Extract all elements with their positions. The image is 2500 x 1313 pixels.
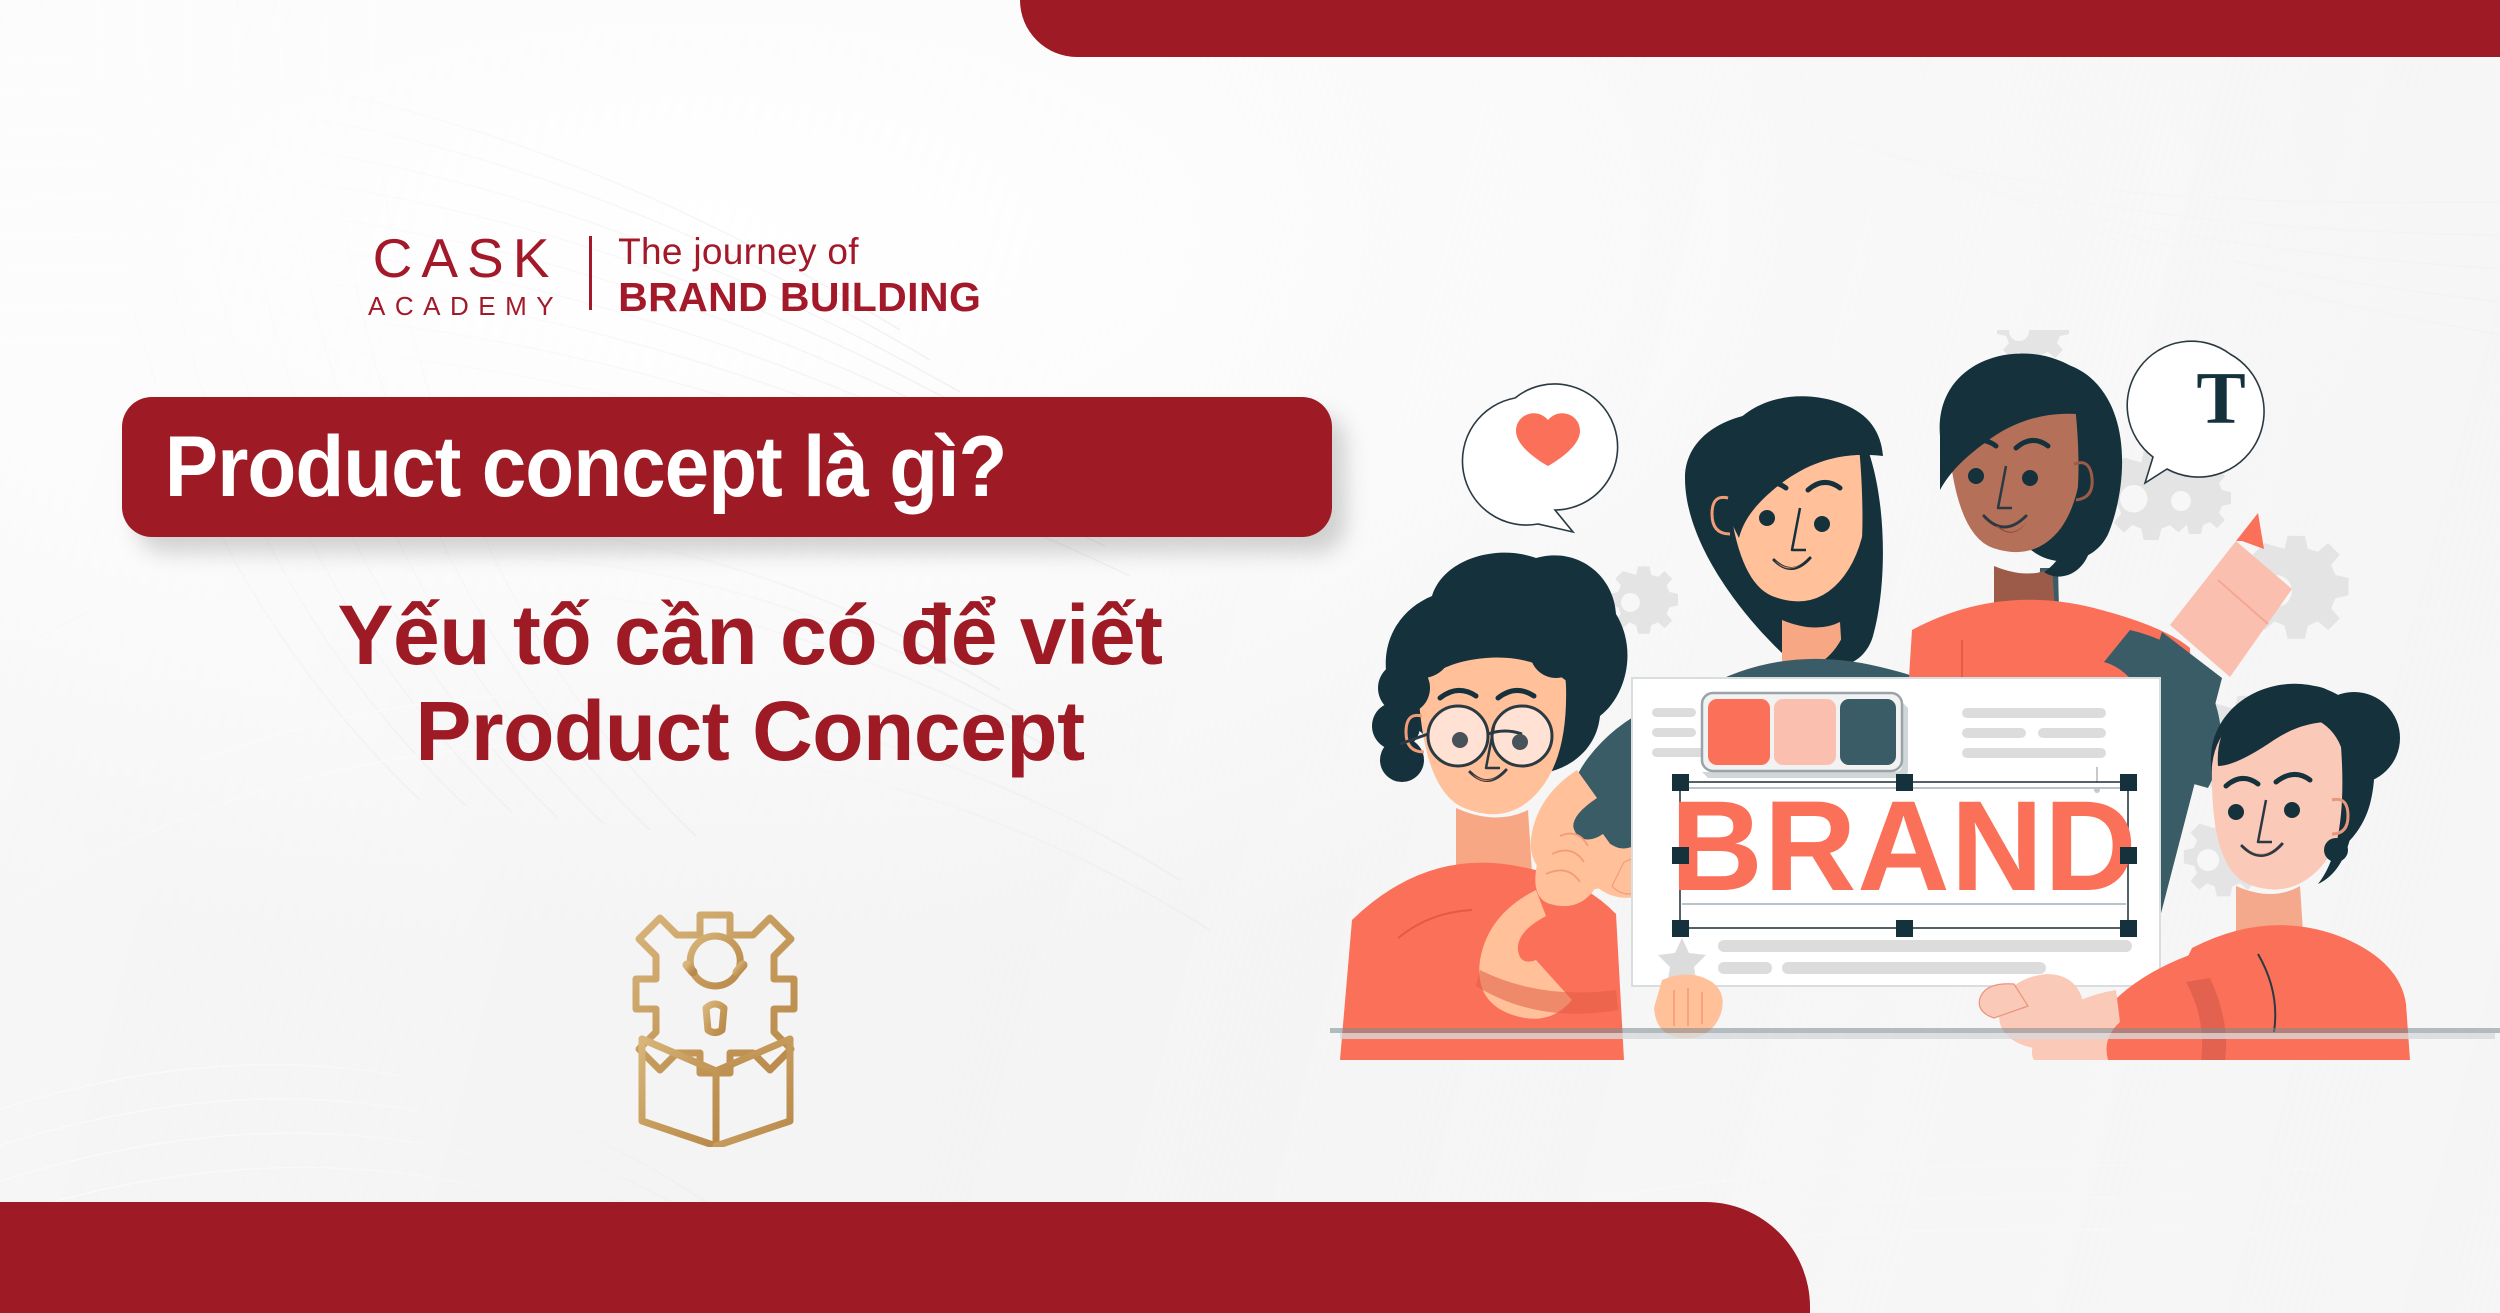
- pencil-tip-icon: [2236, 513, 2264, 549]
- bottom-red-bar: [0, 1202, 1810, 1313]
- top-red-bar: [1020, 0, 2500, 57]
- color-swatch-palette: [1702, 693, 1908, 778]
- team-branding-illustration: T: [1330, 330, 2500, 1060]
- brand-text-selection: BRAND: [1670, 774, 2137, 937]
- logo-cask-text: CASK: [373, 232, 559, 286]
- logo-tagline-line1: The journey of: [618, 232, 981, 273]
- heart-speech-bubble: [1462, 384, 1617, 532]
- coral-swatch: [1708, 699, 1770, 765]
- text-tool-letter: T: [2196, 358, 2245, 440]
- logo-tagline-line2: BRAND BUILDING: [618, 275, 981, 319]
- teal-swatch: [1840, 699, 1896, 765]
- subtitle-line-1: Yếu tố cần có để viết: [337, 588, 1162, 682]
- cask-academy-logo: CASK ACADEMY The journey of BRAND BUILDI…: [368, 232, 981, 322]
- earring-icon: [2324, 838, 2348, 862]
- logo-tagline: The journey of BRAND BUILDING: [618, 232, 981, 319]
- headline-banner: Product concept là gì?: [122, 397, 1332, 537]
- ground-line: [1330, 1028, 2500, 1039]
- gear-lightbulb-in-box-icon: [612, 902, 842, 1147]
- logo-academy-text: ACADEMY: [368, 291, 563, 322]
- poster-canvas: CASK ACADEMY The journey of BRAND BUILDI…: [0, 0, 2500, 1313]
- logo-wordmark: CASK ACADEMY: [368, 232, 563, 322]
- logo-divider: [589, 236, 592, 310]
- subtitle-block: Yếu tố cần có để viết Product Concept: [190, 588, 1310, 780]
- brand-board: BRAND: [1632, 678, 2160, 986]
- pink-swatch: [1774, 699, 1836, 765]
- brand-word-text: BRAND: [1670, 775, 2137, 918]
- headline-banner-text: Product concept là gì?: [122, 418, 1006, 517]
- subtitle-line-2: Product Concept: [190, 684, 1310, 780]
